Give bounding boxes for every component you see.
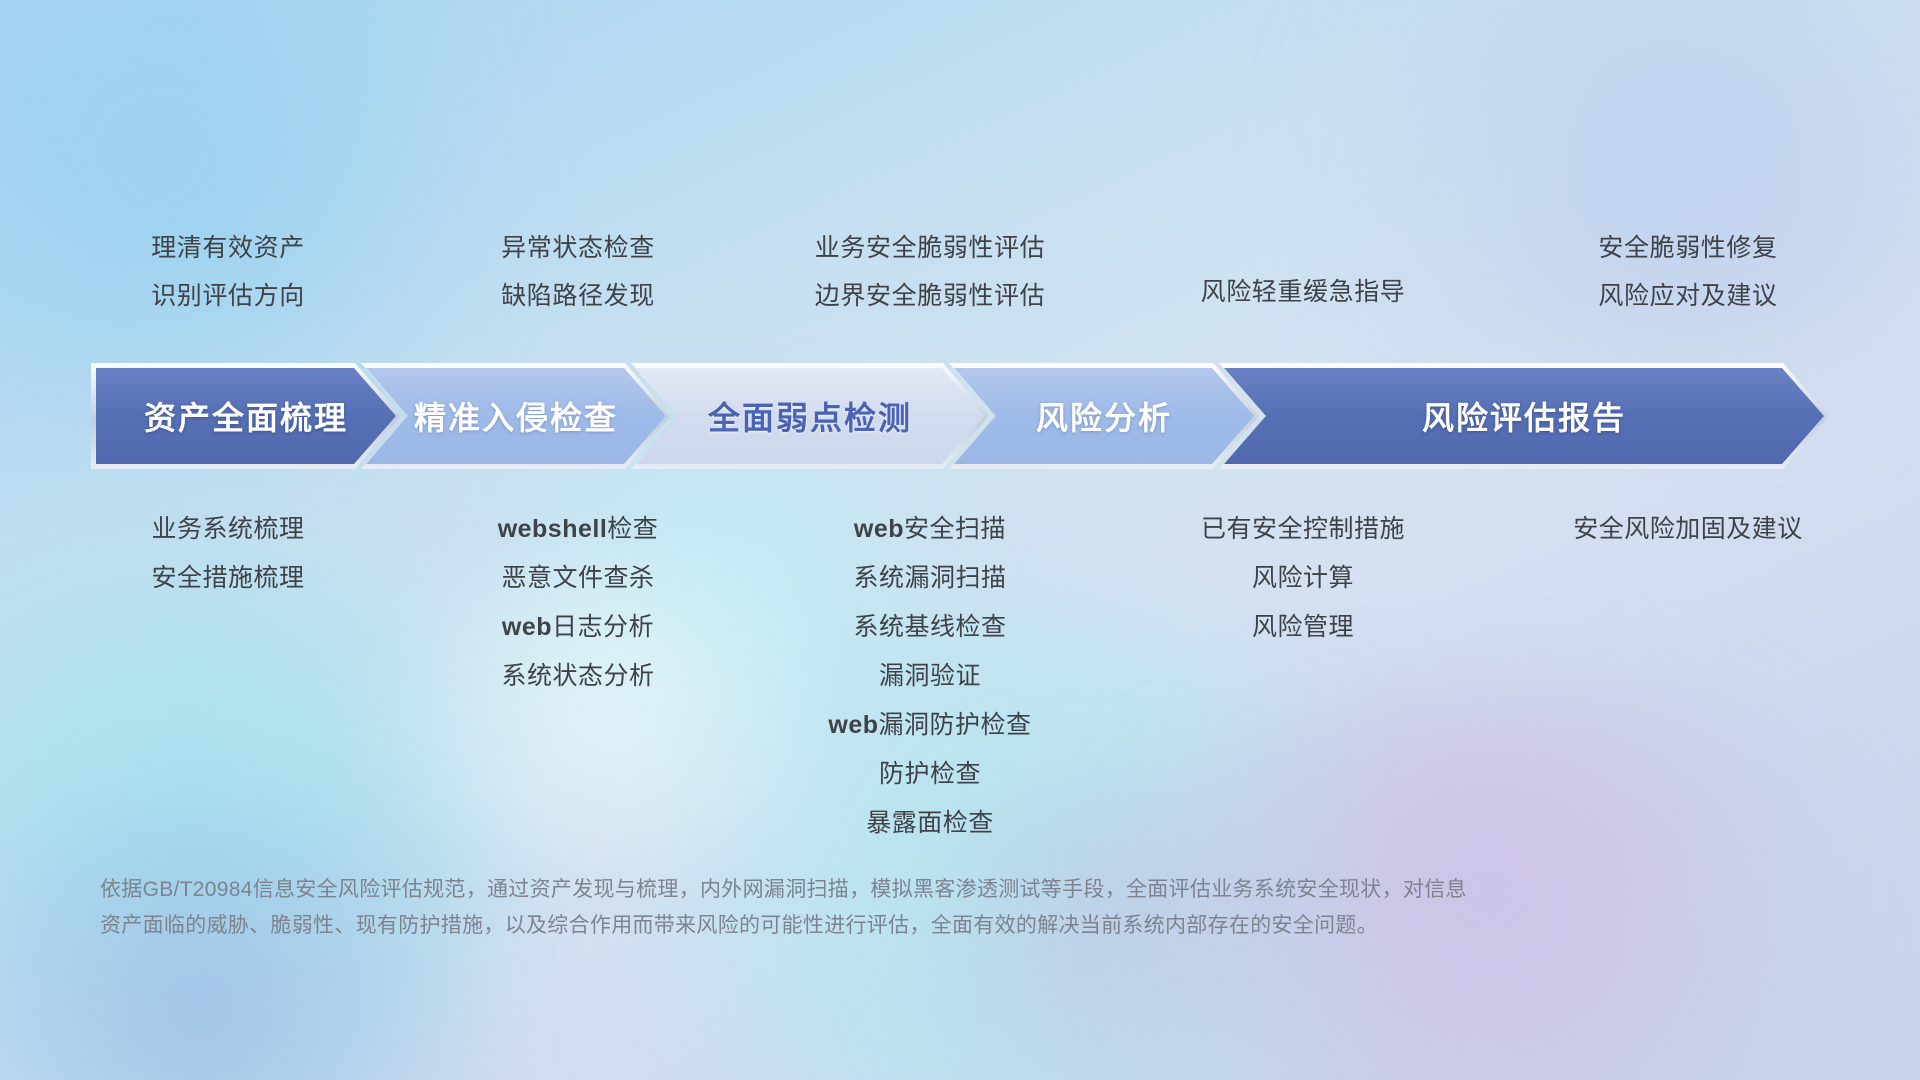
stage-title-intrusion-check: 精准入侵检查 [414, 393, 618, 439]
tasks-assessment-report: 安全风险加固及建议 [1388, 505, 1920, 554]
task-item: 系统漏洞扫描 [853, 554, 1006, 603]
footer-line-2: 资产面临的威胁、脆弱性、现有防护措施，以及综合作用而带来风险的可能性进行评估，全… [100, 908, 1660, 944]
process-stage-assessment-report[interactable]: 风险评估报告 [1224, 368, 1824, 464]
stage-title-asset-inventory: 资产全面梳理 [144, 393, 348, 439]
process-stage-weakness-detection[interactable]: 全面弱点检测 [636, 368, 984, 464]
task-item: 暴露面检查 [866, 799, 994, 848]
task-item: web安全扫描 [854, 505, 1006, 554]
stage-title-risk-analysis: 风险分析 [1036, 393, 1172, 439]
stage-title-weakness-detection: 全面弱点检测 [708, 393, 912, 439]
task-item: 风险管理 [1252, 603, 1354, 652]
process-stage-intrusion-check[interactable]: 精准入侵检查 [366, 368, 666, 464]
outcome-item: 风险轻重缓急指导 [1201, 272, 1406, 312]
outcome-item: 业务安全脆弱性评估 [815, 228, 1045, 268]
process-stage-risk-analysis[interactable]: 风险分析 [954, 368, 1254, 464]
outcome-item: 风险应对及建议 [1598, 276, 1777, 316]
stage-title-assessment-report: 风险评估报告 [1422, 393, 1626, 439]
outcome-item: 安全脆弱性修复 [1598, 228, 1777, 268]
task-item: web漏洞防护检查 [828, 701, 1031, 750]
task-item: 防护检查 [879, 750, 981, 799]
task-item: 已有安全控制措施 [1201, 505, 1405, 554]
task-item: 漏洞验证 [879, 652, 981, 701]
process-stage-asset-inventory[interactable]: 资产全面梳理 [96, 368, 396, 464]
task-item: 风险计算 [1252, 554, 1354, 603]
outcomes-assessment-report: 安全脆弱性修复风险应对及建议 [1388, 228, 1920, 316]
task-item: 系统基线检查 [853, 603, 1006, 652]
process-chevron-band: 资产全面梳理精准入侵检查全面弱点检测风险分析风险评估报告 [0, 368, 1920, 464]
slide-canvas: 理清有效资产识别评估方向异常状态检查缺陷路径发现业务安全脆弱性评估边界安全脆弱性… [0, 0, 1920, 1080]
footer-line-1: 依据GB/T20984信息安全风险评估规范，通过资产发现与梳理，内外网漏洞扫描，… [100, 872, 1660, 908]
task-item: 安全风险加固及建议 [1573, 505, 1803, 554]
footer-description: 依据GB/T20984信息安全风险评估规范，通过资产发现与梳理，内外网漏洞扫描，… [100, 872, 1660, 944]
